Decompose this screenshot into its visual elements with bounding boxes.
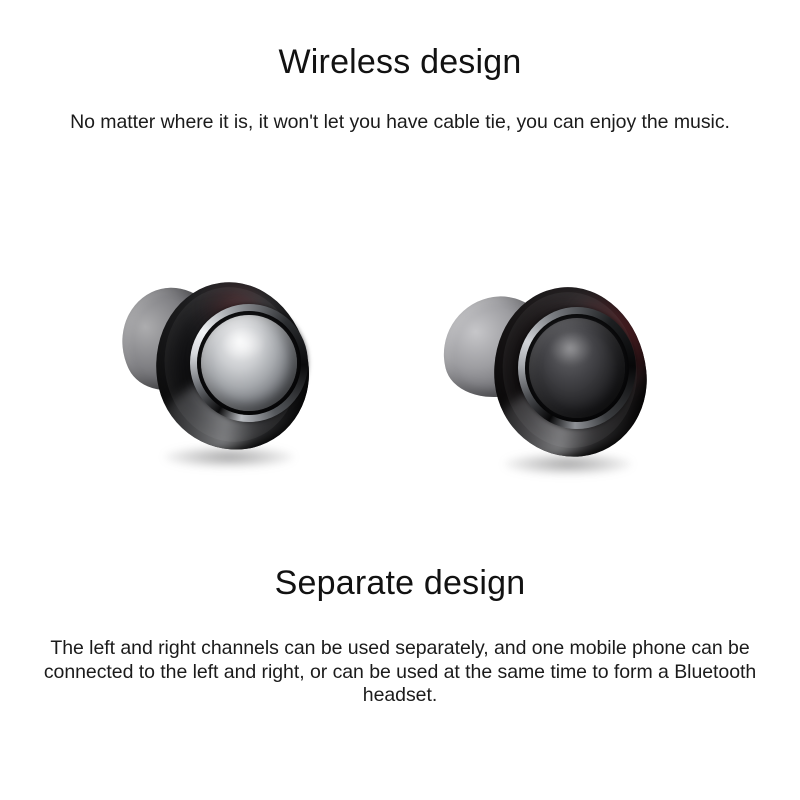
earbud-left-faceplate (201, 315, 297, 411)
wireless-design-heading: Wireless design (0, 44, 800, 81)
product-image-stage (0, 250, 800, 510)
product-feature-page: Wireless design No matter where it is, i… (0, 0, 800, 800)
separate-design-heading: Separate design (0, 565, 800, 602)
wireless-design-section: Wireless design No matter where it is, i… (0, 44, 800, 135)
earbud-right-faceplate (529, 318, 625, 418)
earbud-left-chrome-bezel (190, 304, 308, 422)
earbud-right-chrome-bezel (518, 307, 636, 429)
wireless-design-description: No matter where it is, it won't let you … (0, 111, 800, 134)
separate-design-description: The left and right channels can be used … (0, 637, 800, 707)
separate-design-section: Separate design The left and right chann… (0, 565, 800, 708)
earbud-left-faceplate-glint (224, 330, 262, 359)
earbud-left (118, 278, 328, 478)
earbud-right-faceplate-glint (552, 334, 590, 364)
earbud-right (442, 283, 652, 483)
